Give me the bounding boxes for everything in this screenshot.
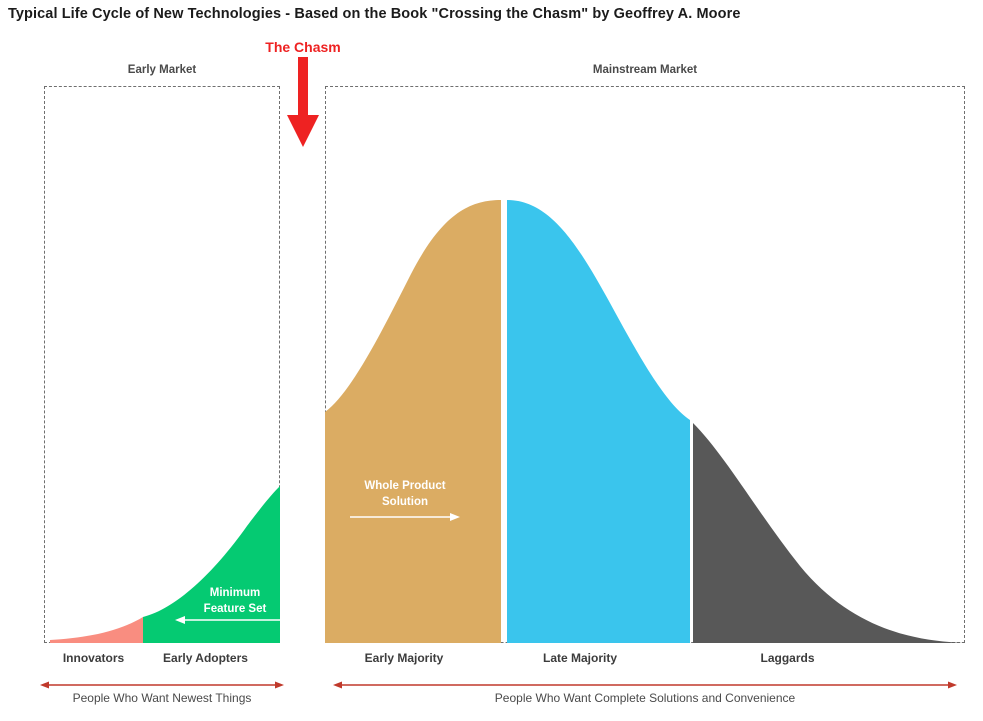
whole-product-solution-line-2: Solution — [382, 496, 428, 508]
early-market-span-arrow-icon — [40, 679, 284, 691]
mainstream-market-panel — [325, 86, 965, 643]
whole-product-solution-annotation: Whole Product Solution — [345, 478, 465, 510]
chasm-down-arrow-icon — [278, 57, 328, 149]
mainstream-market-span-arrow-icon — [333, 679, 957, 691]
chasm-label: The Chasm — [0, 39, 606, 55]
category-label-early-adopters: Early Adopters — [143, 651, 268, 665]
page-title: Typical Life Cycle of New Technologies -… — [8, 6, 741, 22]
section-header-early-market: Early Market — [44, 64, 280, 76]
mainstream-market-span-caption: People Who Want Complete Solutions and C… — [333, 691, 957, 705]
early-market-panel — [44, 86, 280, 643]
diagram-canvas: Typical Life Cycle of New Technologies -… — [0, 0, 983, 721]
category-label-innovators: Innovators — [46, 651, 141, 665]
whole-product-solution-right-arrow-icon — [350, 511, 460, 523]
category-label-early-majority: Early Majority — [325, 651, 483, 665]
section-header-mainstream-market: Mainstream Market — [325, 64, 965, 76]
category-label-laggards: Laggards — [700, 651, 875, 665]
early-market-span-caption: People Who Want Newest Things — [40, 691, 284, 705]
minimum-feature-set-annotation: Minimum Feature Set — [180, 585, 290, 617]
whole-product-solution-line-1: Whole Product — [364, 480, 445, 492]
minimum-feature-set-left-arrow-icon — [175, 614, 280, 626]
minimum-feature-set-line-1: Minimum — [210, 587, 260, 599]
category-label-late-majority: Late Majority — [505, 651, 655, 665]
